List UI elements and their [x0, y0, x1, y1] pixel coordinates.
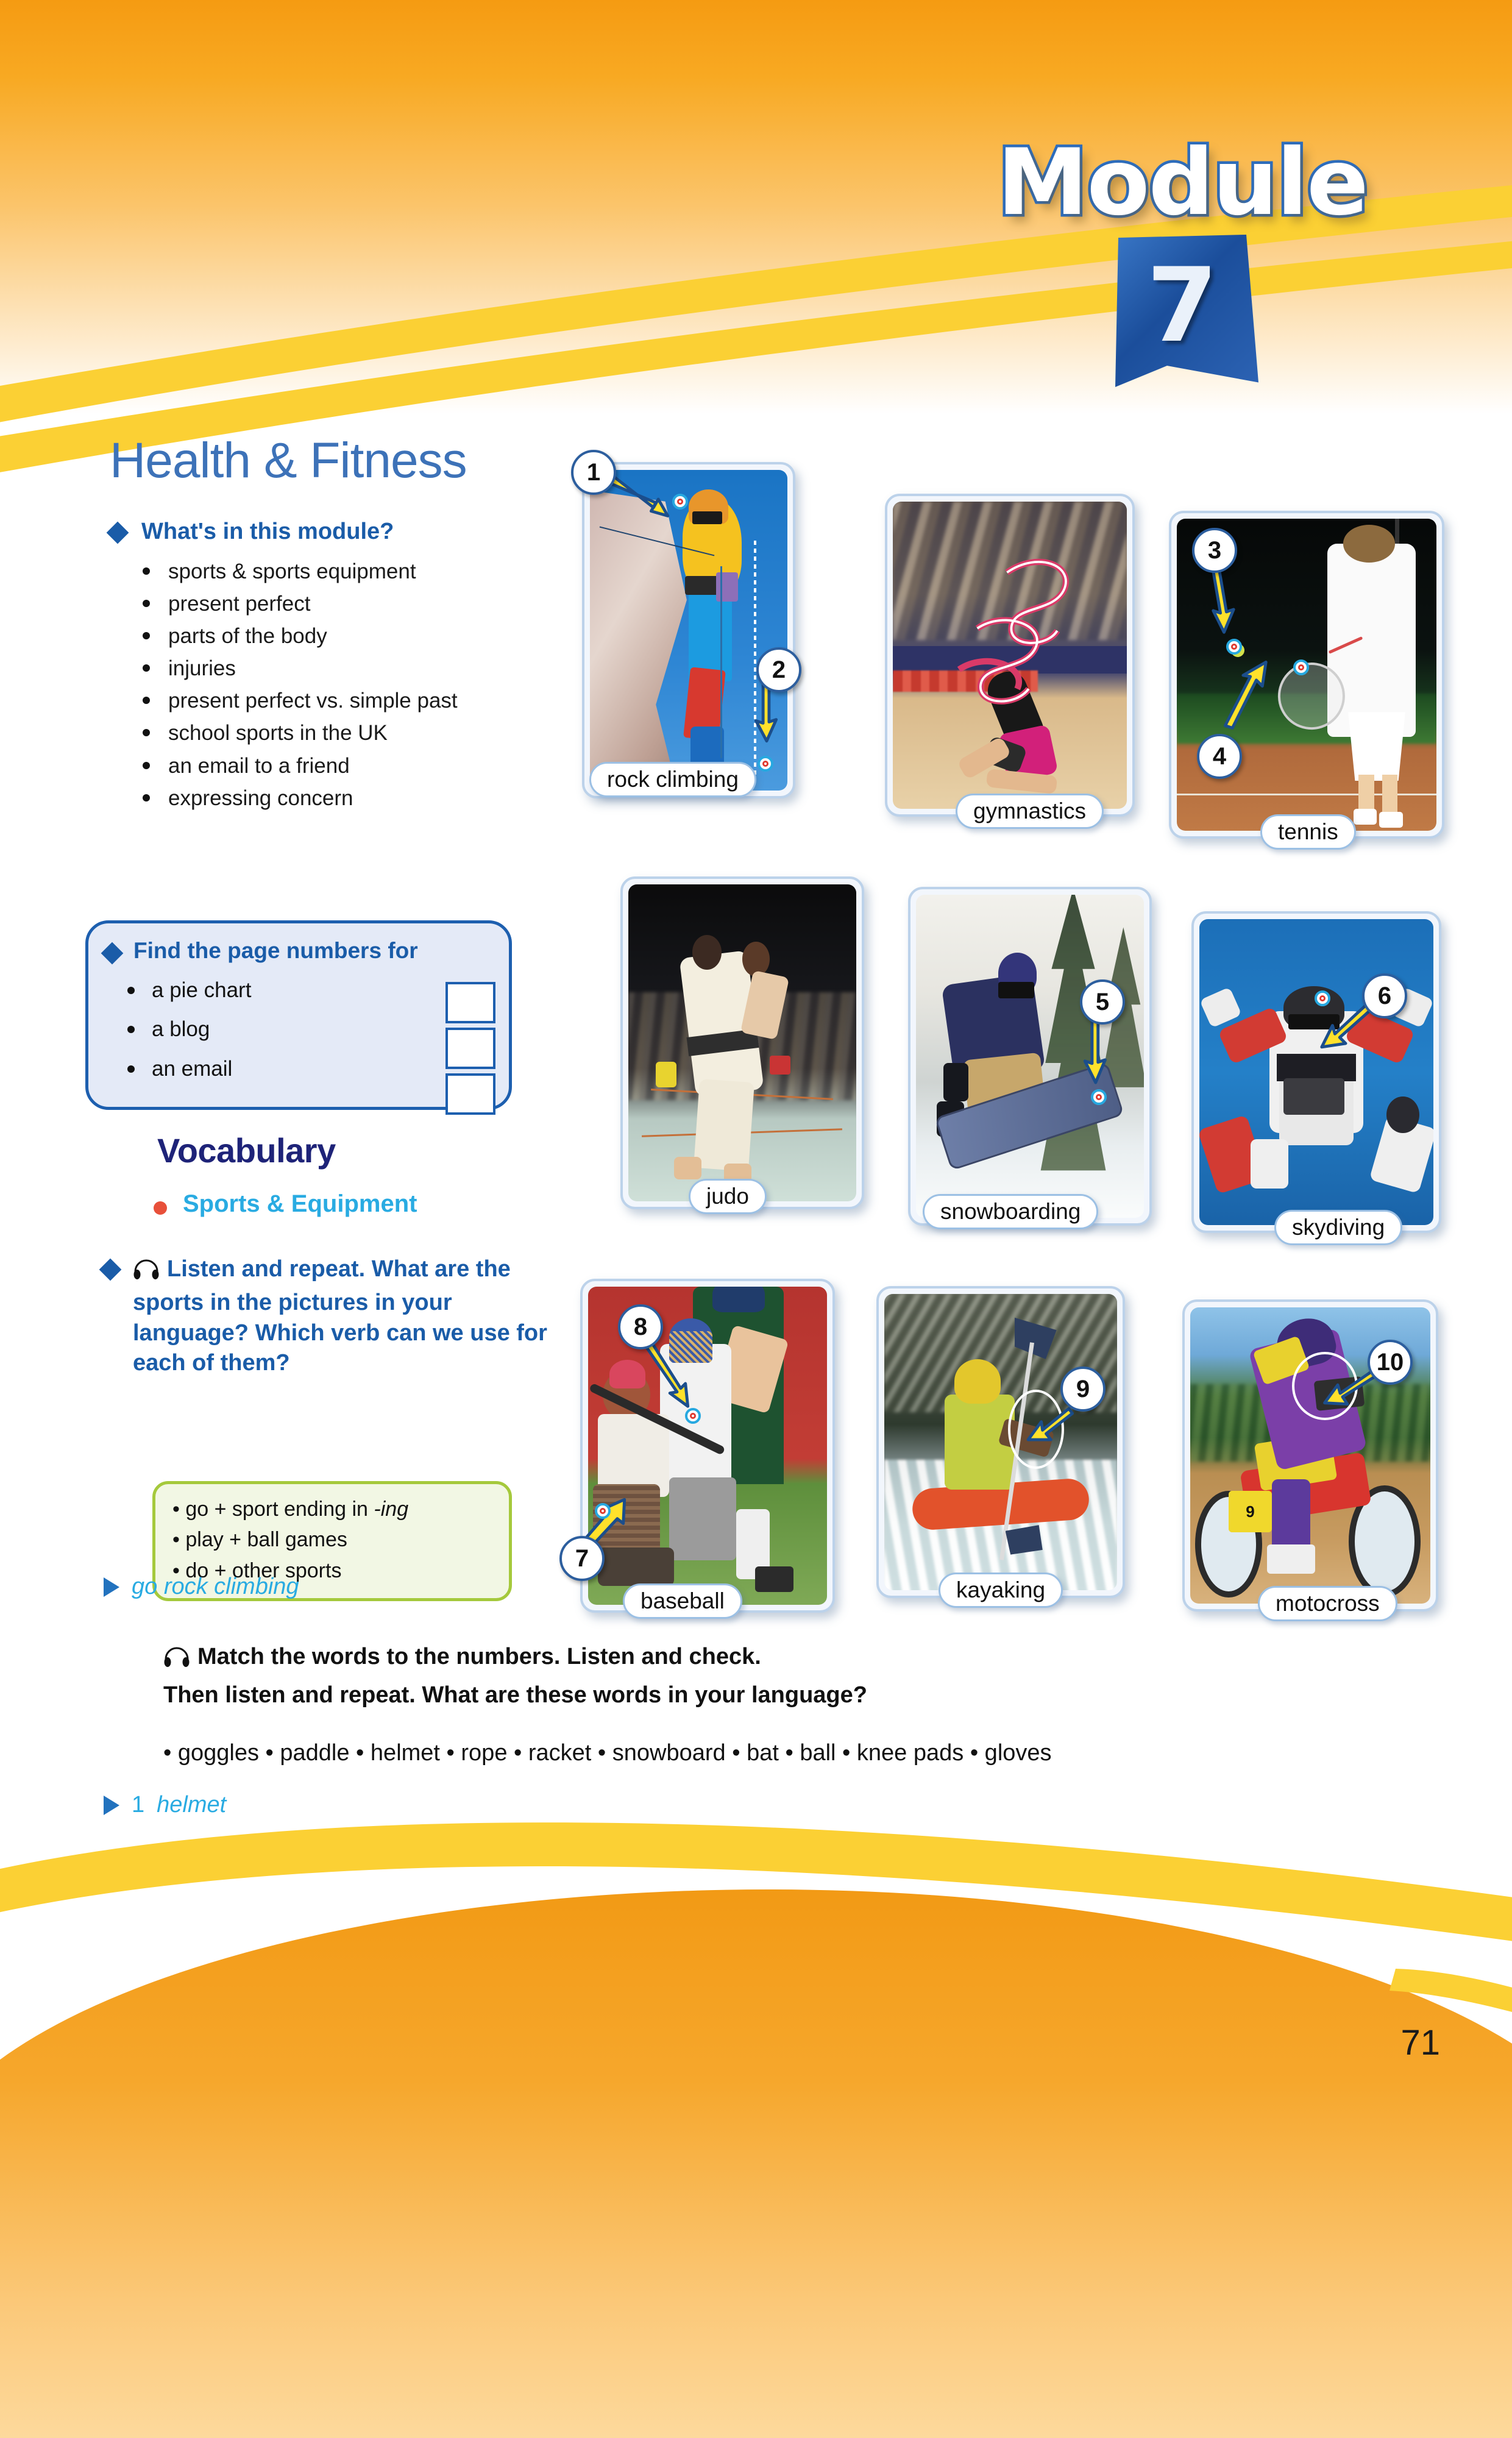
- callout-number-4: 4: [1197, 734, 1242, 779]
- photo-card-kayaking[interactable]: 9 kayaking: [876, 1286, 1125, 1598]
- target-marker-goggles: [1315, 990, 1330, 1006]
- module-header: Module 7: [951, 137, 1414, 454]
- photo-label-rock-climbing: rock climbing: [589, 762, 756, 797]
- whats-in-module-heading-text: What's in this module?: [141, 517, 394, 547]
- vocabulary-heading: Vocabulary: [157, 1131, 336, 1170]
- photo-label-kayaking: kayaking: [939, 1573, 1063, 1608]
- answer-box-blog[interactable]: [445, 1028, 495, 1069]
- target-marker-knee-pads: [595, 1503, 611, 1519]
- photo-gymnastics: [893, 502, 1127, 809]
- target-marker-rope: [758, 756, 773, 772]
- vocabulary-subheading: Sports & Equipment: [183, 1190, 417, 1218]
- list-item: school sports in the UK: [168, 717, 591, 749]
- list-item: a pie chart: [152, 971, 493, 1010]
- photo-skydiving: [1199, 919, 1433, 1225]
- photo-rock-climbing: [590, 470, 787, 791]
- diamond-bullet-icon: [99, 1259, 122, 1281]
- triangle-marker-icon: [104, 1577, 119, 1597]
- callout-number-2: 2: [756, 647, 801, 692]
- whats-in-module-list: sports & sports equipment present perfec…: [110, 555, 591, 815]
- list-item: injuries: [168, 652, 591, 684]
- answer-box-pie-chart[interactable]: [445, 982, 495, 1023]
- callout-number-5: 5: [1080, 979, 1125, 1025]
- photo-label-snowboarding: snowboarding: [923, 1194, 1098, 1229]
- photo-kayaking: [884, 1294, 1117, 1590]
- equipment-word-list: • goggles • paddle • helmet • rope • rac…: [163, 1740, 1052, 1766]
- match-task-line2: Then listen and repeat. What are these w…: [163, 1678, 1382, 1713]
- callout-number-7: 7: [559, 1536, 605, 1581]
- find-page-numbers-heading-text: Find the page numbers for: [133, 938, 418, 964]
- diamond-bullet-icon: [107, 522, 129, 544]
- list-item: sports & sports equipment: [168, 555, 591, 588]
- find-page-numbers-heading: Find the page numbers for: [104, 938, 493, 964]
- photo-label-skydiving: skydiving: [1274, 1210, 1402, 1245]
- find-page-numbers-box: Find the page numbers for a pie chart a …: [85, 920, 512, 1110]
- photo-card-baseball[interactable]: 8 7 baseball: [580, 1279, 835, 1613]
- highlight-ring-paddle: [1008, 1390, 1064, 1469]
- callout-number-3: 3: [1192, 528, 1237, 573]
- example-answer-word: helmet: [157, 1792, 226, 1818]
- callout-number-9: 9: [1060, 1366, 1106, 1412]
- list-item: present perfect vs. simple past: [168, 684, 591, 717]
- left-content-column: Health & Fitness What's in this module? …: [110, 436, 591, 814]
- verb-rule-2: • play + ball games: [172, 1524, 492, 1555]
- target-marker-racket: [1293, 659, 1309, 675]
- match-task-line1-wrap: Match the words to the numbers. Listen a…: [163, 1640, 1382, 1678]
- example-text: go rock climbing: [132, 1574, 299, 1600]
- photo-label-baseball: baseball: [623, 1583, 742, 1619]
- photo-card-tennis[interactable]: 3 4 tennis: [1169, 511, 1444, 839]
- callout-number-8: 8: [618, 1304, 663, 1349]
- list-item: expressing concern: [168, 782, 591, 814]
- headphones-icon: [163, 1643, 190, 1678]
- page-number: 71: [1400, 2022, 1440, 2063]
- answer-box-email[interactable]: [445, 1073, 495, 1115]
- photo-judo: [628, 884, 856, 1201]
- target-marker-ball: [1226, 639, 1242, 655]
- list-item: parts of the body: [168, 620, 591, 652]
- module-word: Module: [951, 137, 1414, 229]
- list-item: present perfect: [168, 588, 591, 620]
- match-task-block: Match the words to the numbers. Listen a…: [163, 1640, 1382, 1713]
- whats-in-module-heading: What's in this module?: [110, 517, 591, 547]
- answer-box-group: [445, 982, 495, 1119]
- list-item: a blog: [152, 1010, 493, 1049]
- photo-label-motocross: motocross: [1258, 1586, 1397, 1621]
- photo-card-snowboarding[interactable]: 5 snowboarding: [908, 887, 1152, 1226]
- photo-card-motocross[interactable]: 9 10 motocross: [1182, 1299, 1438, 1612]
- callout-number-6: 6: [1362, 973, 1407, 1018]
- target-marker-helmet: [672, 494, 688, 510]
- bottom-orange-arc: [0, 1889, 1512, 2438]
- photo-label-gymnastics: gymnastics: [956, 794, 1104, 829]
- callout-number-10: 10: [1368, 1340, 1413, 1385]
- photo-card-rock-climbing[interactable]: 1 2 rock climbing: [582, 462, 795, 798]
- photo-card-judo[interactable]: judo: [620, 876, 864, 1209]
- photo-label-judo: judo: [689, 1179, 767, 1214]
- photo-card-skydiving[interactable]: 6 skydiving: [1191, 911, 1441, 1233]
- photo-card-gymnastics[interactable]: gymnastics: [885, 494, 1135, 817]
- example-go-rock-climbing: go rock climbing: [104, 1574, 299, 1600]
- headphones-icon: [133, 1256, 160, 1288]
- match-task-line1: Match the words to the numbers. Listen a…: [197, 1644, 761, 1669]
- listen-and-repeat-text-wrap: Listen and repeat. What are the sports i…: [133, 1254, 566, 1379]
- listen-and-repeat-block: Listen and repeat. What are the sports i…: [102, 1254, 566, 1379]
- diamond-bullet-icon: [101, 942, 124, 965]
- verb-rule-1: • go + sport ending in -ing: [172, 1494, 492, 1524]
- list-item: an email: [152, 1050, 493, 1089]
- photo-label-tennis: tennis: [1260, 814, 1356, 850]
- page-title: Health & Fitness: [110, 436, 591, 486]
- find-page-numbers-list: a pie chart a blog an email: [104, 971, 493, 1089]
- list-item: an email to a friend: [168, 750, 591, 782]
- example-answer-line: 1 helmet: [104, 1792, 226, 1818]
- triangle-marker-icon: [104, 1796, 119, 1815]
- photo-snowboarding: [916, 895, 1144, 1218]
- example-answer-number: 1: [132, 1792, 144, 1818]
- target-marker-snowboard: [1091, 1089, 1107, 1105]
- module-number-badge: 7: [1106, 235, 1258, 387]
- module-number: 7: [1106, 235, 1258, 387]
- listen-and-repeat-text: Listen and repeat. What are the sports i…: [133, 1256, 547, 1376]
- target-marker-bat: [685, 1408, 701, 1424]
- callout-number-1: 1: [571, 450, 616, 495]
- highlight-ring-gloves: [1292, 1352, 1358, 1420]
